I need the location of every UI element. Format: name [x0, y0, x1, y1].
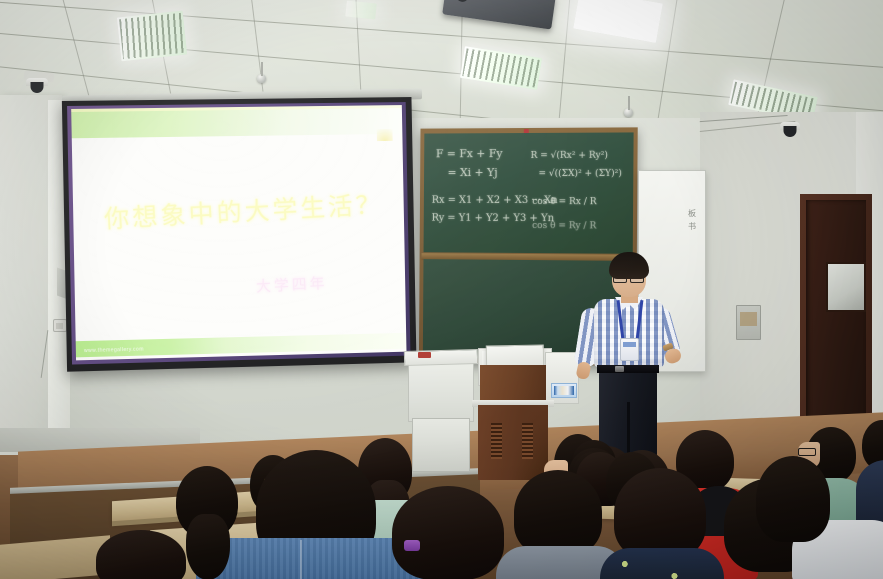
chalk-line-7: cos θ = Rx / R [532, 197, 596, 207]
presenter [575, 252, 687, 457]
chalk-line-2: = Xi + Yj [447, 166, 497, 179]
list-item [614, 468, 706, 560]
podium-vent-right [522, 423, 533, 459]
ceiling-light-5 [345, 0, 377, 19]
slide-banner [71, 108, 402, 138]
cabinet-indicator [418, 352, 431, 358]
hair-tie-purple [404, 540, 420, 551]
presenter-left-hand [575, 361, 591, 380]
slide-subtitle: 大学四年 [256, 272, 328, 296]
slide-footer-bar [76, 333, 407, 358]
list-item [392, 486, 504, 579]
presenter-belt-buckle [615, 366, 624, 372]
blackboard-upper-panel: F = Fx + Fy = Xi + Yj Rx = X1 + X2 + X3 … [424, 132, 634, 253]
ceiling-light-1 [117, 11, 187, 62]
student-navy-print-top [600, 548, 724, 579]
podium-vent-left [491, 423, 502, 459]
screen-border: 你想象中的大学生活？ 大学四年 www.themegallery.com [67, 102, 410, 364]
projection-screen: 你想象中的大学生活？ 大学四年 www.themegallery.com [62, 97, 417, 372]
dome-camera-right [780, 122, 800, 130]
ceiling-hanger-rod [628, 96, 630, 110]
dome-camera-left [26, 78, 48, 86]
presenter-lanyard [619, 300, 641, 340]
eyeglasses-icon [798, 448, 816, 456]
chalk-line-1: F = Fx + Fy [436, 147, 503, 160]
list-item [186, 514, 230, 579]
wall-outlet-left[interactable] [53, 319, 67, 332]
classroom-photo: 你想象中的大学生活？ 大学四年 www.themegallery.com F =… [0, 0, 883, 579]
presenter-id-badge [620, 338, 639, 361]
podium-body [478, 405, 548, 480]
whiteboard-text: 板书 [685, 207, 699, 233]
podium-asset-sticker [551, 383, 577, 398]
equipment-cabinet [408, 358, 474, 422]
denim-seam [300, 540, 302, 579]
slide-corner-accent [377, 129, 393, 141]
slide-title: 你想象中的大学生活？ [103, 184, 404, 236]
presenter-belt [597, 365, 659, 373]
equipment-cabinet-lower [412, 418, 470, 472]
chalk-line-8: cos θ = Ry / R [532, 221, 596, 231]
presenter-leg-split [627, 402, 630, 458]
door-window [826, 262, 866, 312]
presenter-hair [609, 252, 649, 279]
equipment-cabinet-lid[interactable] [404, 349, 478, 366]
presentation-slide: 你想象中的大学生活？ 大学四年 www.themegallery.com [71, 105, 406, 360]
list-item [514, 470, 602, 556]
list-item [756, 456, 830, 542]
chalk-line-6: = √((ΣX)² + (ΣY)²) [538, 169, 621, 179]
ceiling-hanger-rod-2 [261, 62, 263, 76]
wall-control-panel[interactable] [736, 305, 761, 340]
chalk-line-5: R = √(Rx² + Ry²) [531, 151, 608, 161]
